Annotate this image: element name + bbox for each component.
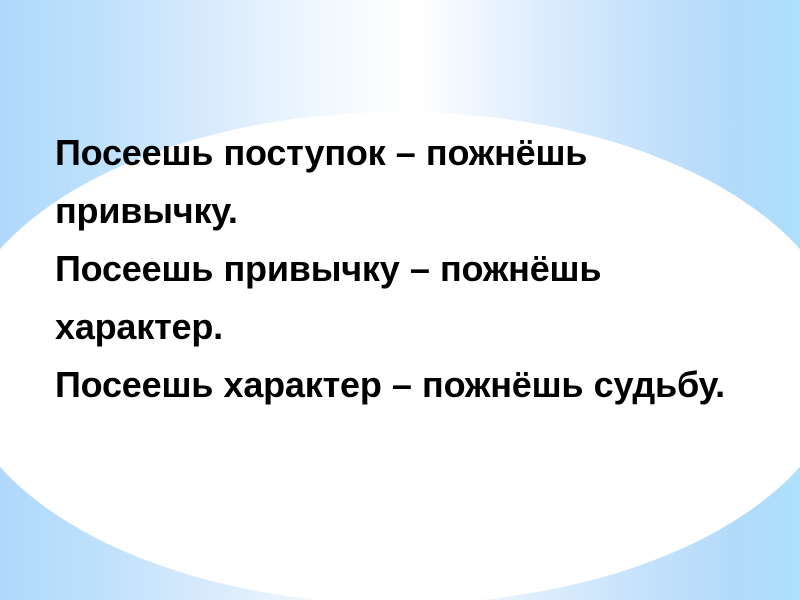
proverb-line-3: Посеешь характер – пожнёшь судьбу.: [55, 356, 752, 414]
proverb-line-1: Посеешь поступок – пожнёшь привычку.: [55, 124, 752, 240]
slide-canvas: Посеешь поступок – пожнёшь привычку. Пос…: [0, 0, 800, 600]
proverb-line-2: Посеешь привычку – пожнёшь характер.: [55, 240, 752, 356]
slide-text-block: Посеешь поступок – пожнёшь привычку. Пос…: [0, 124, 800, 414]
